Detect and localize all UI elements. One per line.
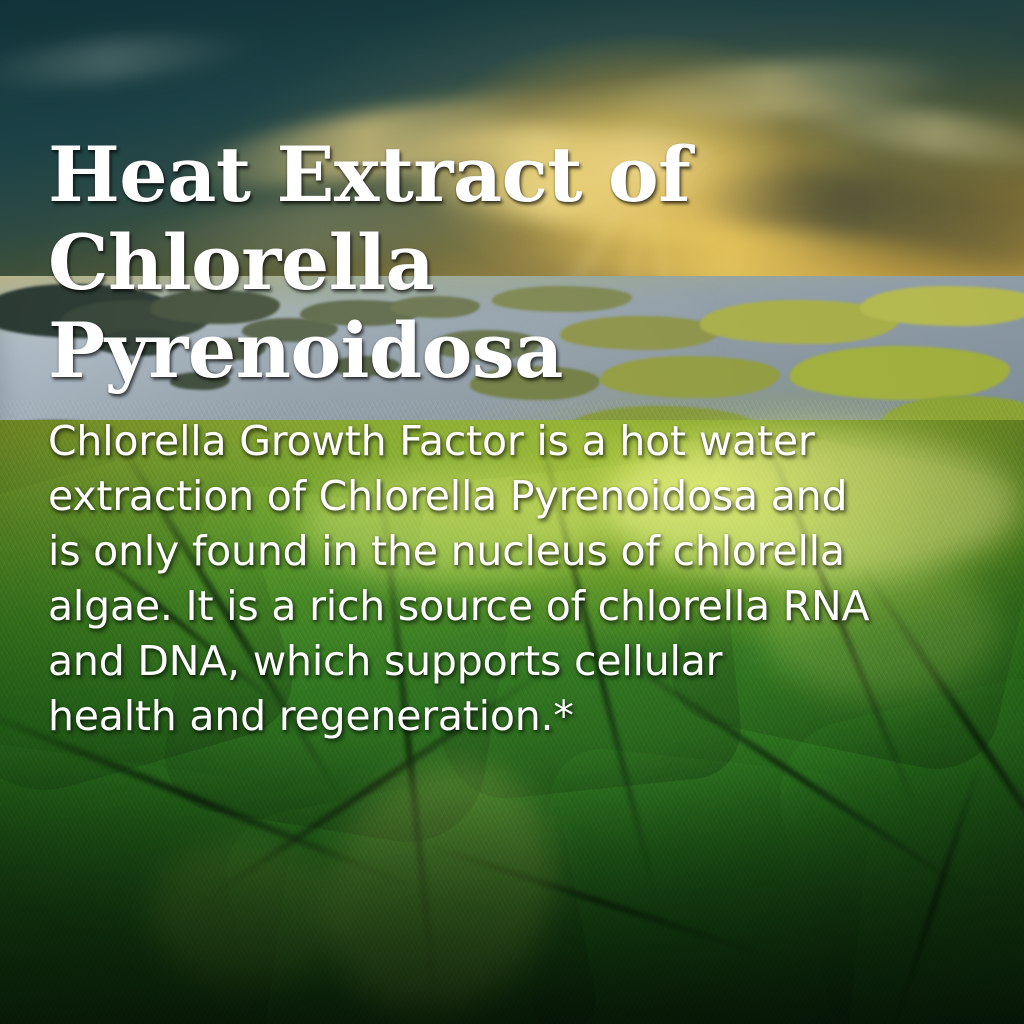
body-paragraph: Chlorella Growth Factor is a hot water e…: [48, 414, 928, 744]
page-title: Heat Extract of Chlorella Pyrenoidosa: [48, 131, 948, 395]
text-overlay: Heat Extract of Chlorella Pyrenoidosa Ch…: [0, 0, 1024, 1024]
poster-card: Heat Extract of Chlorella Pyrenoidosa Ch…: [0, 0, 1024, 1024]
